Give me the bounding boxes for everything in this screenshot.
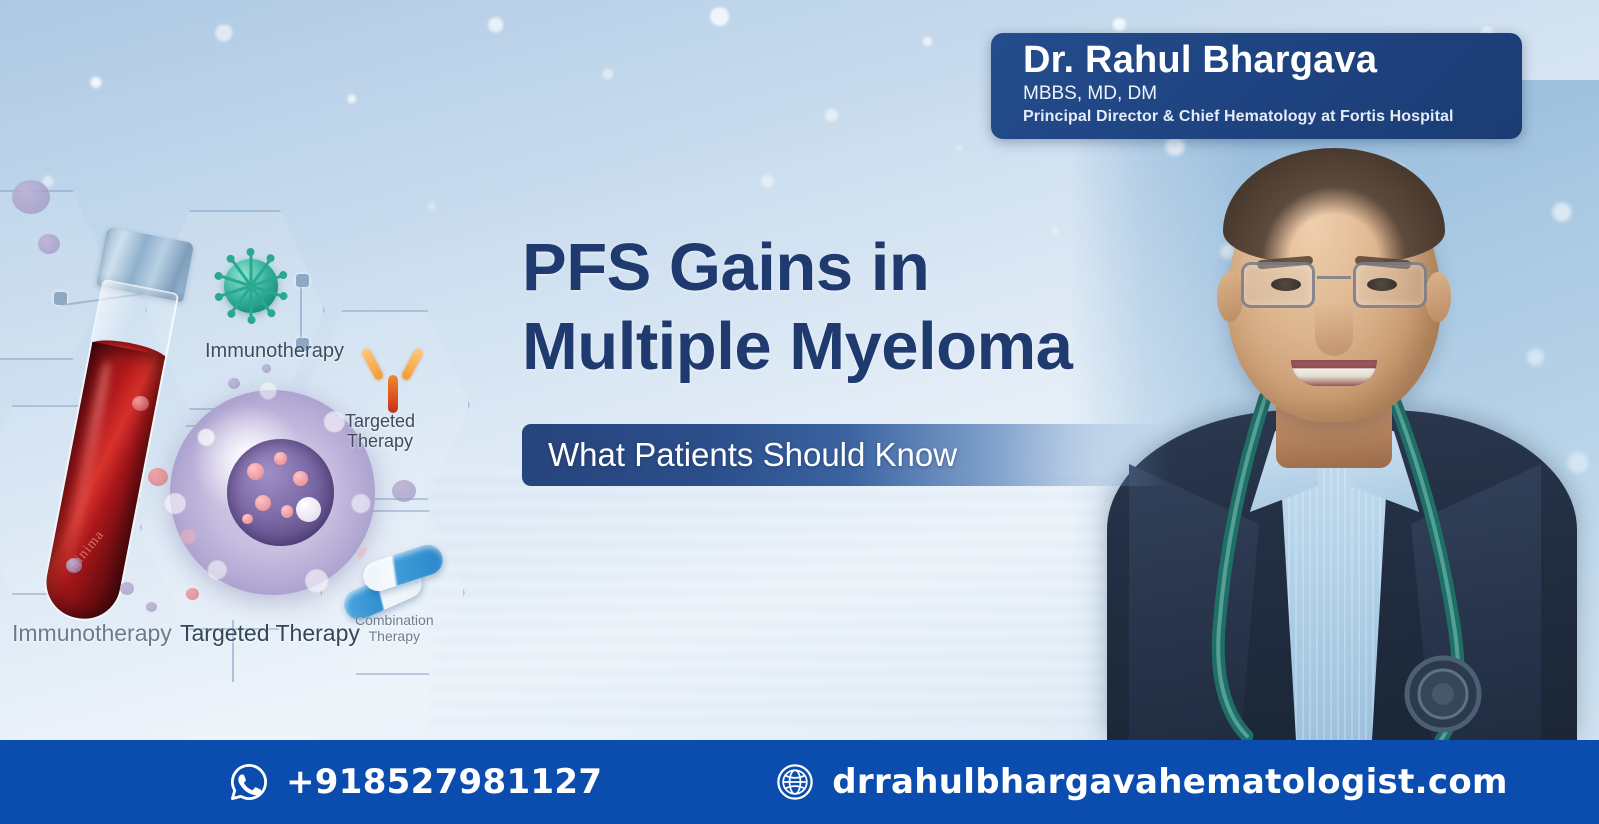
website-url: drrahulbhargavahematologist.com	[832, 762, 1507, 802]
page-title: PFS Gains in Multiple Myeloma	[522, 228, 1202, 386]
label-targeted-line2: Therapy	[347, 431, 413, 451]
label-targeted-therapy-upper: Targeted Therapy	[345, 412, 415, 452]
contact-footer-bar: +918527981127 drrahulbhargavahematologis…	[0, 740, 1599, 824]
headline-line-2: Multiple Myeloma	[522, 307, 1202, 386]
label-immunotherapy-upper: Immunotherapy	[205, 340, 344, 363]
label-combination-line2: Therapy	[369, 628, 420, 644]
doctor-name: Dr. Rahul Bhargava	[1023, 39, 1506, 82]
label-targeted-therapy-lower: Targeted Therapy	[180, 620, 360, 647]
doctor-ear-left	[1217, 272, 1243, 322]
doctor-nose	[1315, 304, 1353, 356]
website-contact[interactable]: drrahulbhargavahematologist.com	[774, 761, 1507, 803]
label-immunotherapy-lower: Immunotherapy	[12, 620, 172, 647]
doctor-portrait-photo	[1069, 80, 1599, 740]
label-combination-line1: Combination	[355, 612, 434, 628]
phone-number: +918527981127	[286, 762, 602, 802]
antibody-icon	[360, 345, 426, 417]
eyeglasses-icon	[1241, 262, 1427, 310]
doctor-name-badge: Dr. Rahul Bhargava MBBS, MD, DM Principa…	[991, 33, 1522, 139]
label-targeted-line1: Targeted	[345, 411, 415, 431]
doctor-smile	[1291, 360, 1377, 386]
globe-icon	[774, 761, 816, 803]
virus-icon	[215, 250, 287, 322]
phone-contact[interactable]: +918527981127	[228, 761, 602, 803]
doctor-degrees: MBBS, MD, DM	[1023, 83, 1506, 106]
doctor-ear-right	[1425, 272, 1451, 322]
doctor-role: Principal Director & Chief Hematology at…	[1023, 107, 1506, 126]
medical-illustration: minima	[0, 150, 470, 720]
label-combination-therapy: Combination Therapy	[355, 612, 434, 644]
headline-line-1: PFS Gains in	[522, 230, 929, 305]
subtitle-banner: What Patients Should Know	[522, 424, 1172, 486]
subtitle-text: What Patients Should Know	[522, 436, 957, 474]
whatsapp-icon	[228, 761, 270, 803]
banner-root: minima	[0, 0, 1599, 824]
doctor-head	[1227, 154, 1441, 422]
